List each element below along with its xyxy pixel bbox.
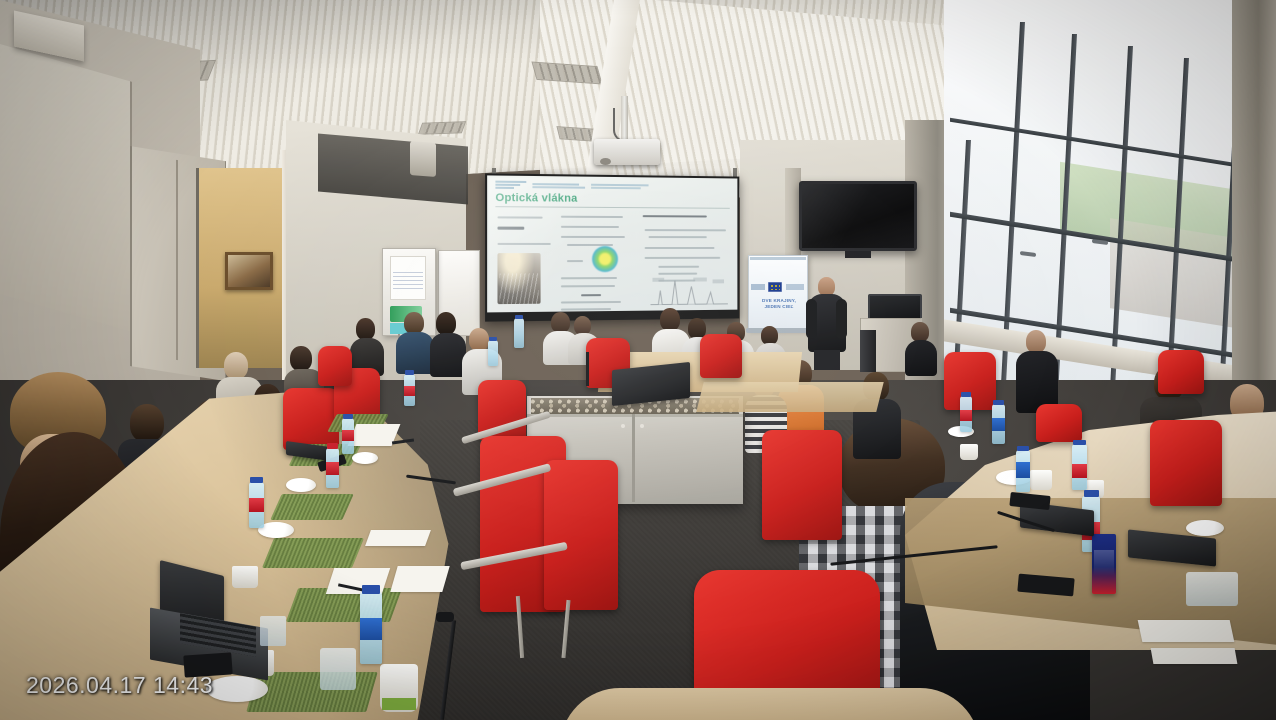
slide-formula-text: [581, 294, 601, 296]
saucer: [206, 676, 268, 702]
planter-knob: [621, 424, 625, 428]
chair[interactable]: [1150, 420, 1222, 506]
saucer: [352, 452, 378, 464]
drinking-glass[interactable]: [1186, 572, 1238, 606]
slide-subbullet-text: [658, 266, 699, 268]
saucer: [1186, 520, 1224, 536]
slide-bullet-text: [649, 236, 707, 238]
banner-slogan: DVE KRAJINY, JEDEN CIEĽ: [752, 298, 806, 310]
banner-interreg-logo-icon: [751, 284, 765, 290]
bottle-label: [342, 430, 354, 441]
projector-lens-icon: [600, 158, 611, 165]
bottle-cap: [1073, 440, 1086, 445]
fiber-strands-overlay: [500, 273, 539, 304]
bottle-label: [360, 618, 382, 640]
projection-screen: Optická vlákna: [485, 173, 739, 321]
microphone-gooseneck[interactable]: [586, 352, 589, 386]
left-wall-panel: [0, 44, 132, 332]
slide-bullet-text: [645, 247, 715, 249]
bottle-cap: [250, 477, 263, 483]
slide-title-rule: [495, 206, 729, 209]
energy-drink-label: [1094, 550, 1114, 576]
drinking-glass[interactable]: [260, 616, 286, 646]
bottle-cap: [961, 392, 971, 397]
bottle-cap: [362, 585, 380, 594]
faculty-logo-icon: [532, 183, 585, 189]
handout-paper: [1151, 648, 1238, 664]
bottle-label: [404, 386, 415, 396]
water-bottle[interactable]: [488, 340, 498, 366]
drinking-glass[interactable]: [320, 648, 356, 690]
cup: [960, 444, 978, 460]
banner-base: [746, 328, 810, 333]
water-bottle[interactable]: [514, 318, 524, 348]
chair[interactable]: [1158, 350, 1204, 394]
bottle-label: [249, 498, 264, 512]
paper-cup-label: [382, 698, 416, 710]
tv-screen-reflection: [802, 184, 914, 248]
planter-knob: [640, 424, 644, 428]
ceiling-vent-icon: [418, 121, 466, 135]
bottle-cap: [405, 370, 414, 375]
chair[interactable]: [318, 346, 352, 386]
placemat: [262, 538, 364, 568]
presenter-legs: [814, 350, 840, 370]
slide-title: Optická vlákna: [495, 192, 577, 205]
bottle-cap: [489, 337, 497, 341]
banner-top-strip: [750, 257, 806, 260]
bottle-label: [960, 410, 972, 421]
handout-paper: [365, 530, 431, 546]
slide-bullet-text: [497, 243, 550, 245]
university-logo-icon: [495, 181, 526, 189]
right-wall-column: [1232, 0, 1276, 400]
flipchart-poster-text: [393, 272, 423, 292]
bottle-cap: [993, 400, 1004, 405]
framed-picture: [225, 252, 273, 290]
eu-flag-stars: [770, 284, 780, 290]
pc-tower: [860, 330, 876, 372]
chair[interactable]: [544, 460, 618, 610]
bottle-cap: [327, 443, 338, 449]
chair[interactable]: [1036, 404, 1082, 442]
projector-mount-pole: [621, 96, 628, 140]
slide-bullet-text: [561, 236, 625, 238]
chair[interactable]: [762, 430, 842, 540]
wall-speaker: [410, 141, 436, 177]
slide-bullet-text: [561, 216, 623, 218]
bottle-label: [1072, 464, 1087, 478]
rollup-banner: [748, 255, 808, 329]
mode-field-diagram: [592, 246, 618, 272]
chair[interactable]: [700, 334, 742, 378]
presenter-arm: [836, 299, 847, 339]
slide-bullet-text: [561, 308, 611, 311]
cup: [232, 566, 258, 588]
slide-section-heading: [643, 215, 707, 217]
presenter-arm: [806, 299, 817, 339]
planter-lip: [527, 414, 743, 417]
slide-bullet-text: [561, 277, 617, 279]
partner-logo-icon: [591, 183, 648, 189]
cup: [1030, 470, 1052, 490]
slide-header-logos: [495, 180, 666, 192]
slide-bullet-text: [561, 285, 615, 287]
bottle-cap: [1084, 490, 1099, 497]
bottle-label: [326, 462, 339, 475]
photo-scene: Optická vlákna: [0, 0, 1276, 720]
slide-formula-text: [567, 260, 583, 262]
slide-bullet-text: [561, 301, 621, 304]
bottle-label: [1016, 462, 1030, 478]
placemat: [270, 494, 354, 520]
slide-bullet-text: [497, 216, 542, 218]
slide-surface: Optická vlákna: [487, 175, 737, 312]
slide-bullet-text: [561, 226, 619, 228]
bottle-cap: [343, 414, 353, 419]
timestamp-overlay: 2026.04.17 14:43: [26, 672, 213, 699]
microphone-head: [436, 612, 454, 622]
slide-bullet-text: [497, 227, 524, 230]
attenuation-spectrum-chart: [649, 274, 730, 306]
planter-divider: [632, 414, 635, 502]
conference-table-foreground: [560, 688, 980, 720]
cabinet-door-seam: [176, 160, 178, 360]
handout-paper: [1138, 620, 1235, 642]
handout-paper: [390, 566, 449, 592]
saucer: [286, 478, 316, 492]
bottle-label: [992, 418, 1005, 431]
bottle-cap: [1017, 446, 1029, 451]
slide-bullet-text: [645, 229, 726, 231]
conference-table-middle: [696, 382, 883, 412]
tv-wall-mount: [845, 251, 871, 258]
slide-bullet-text: [645, 257, 721, 259]
bottle-cap: [515, 315, 523, 319]
banner-partner-logo-icon: [786, 284, 804, 290]
